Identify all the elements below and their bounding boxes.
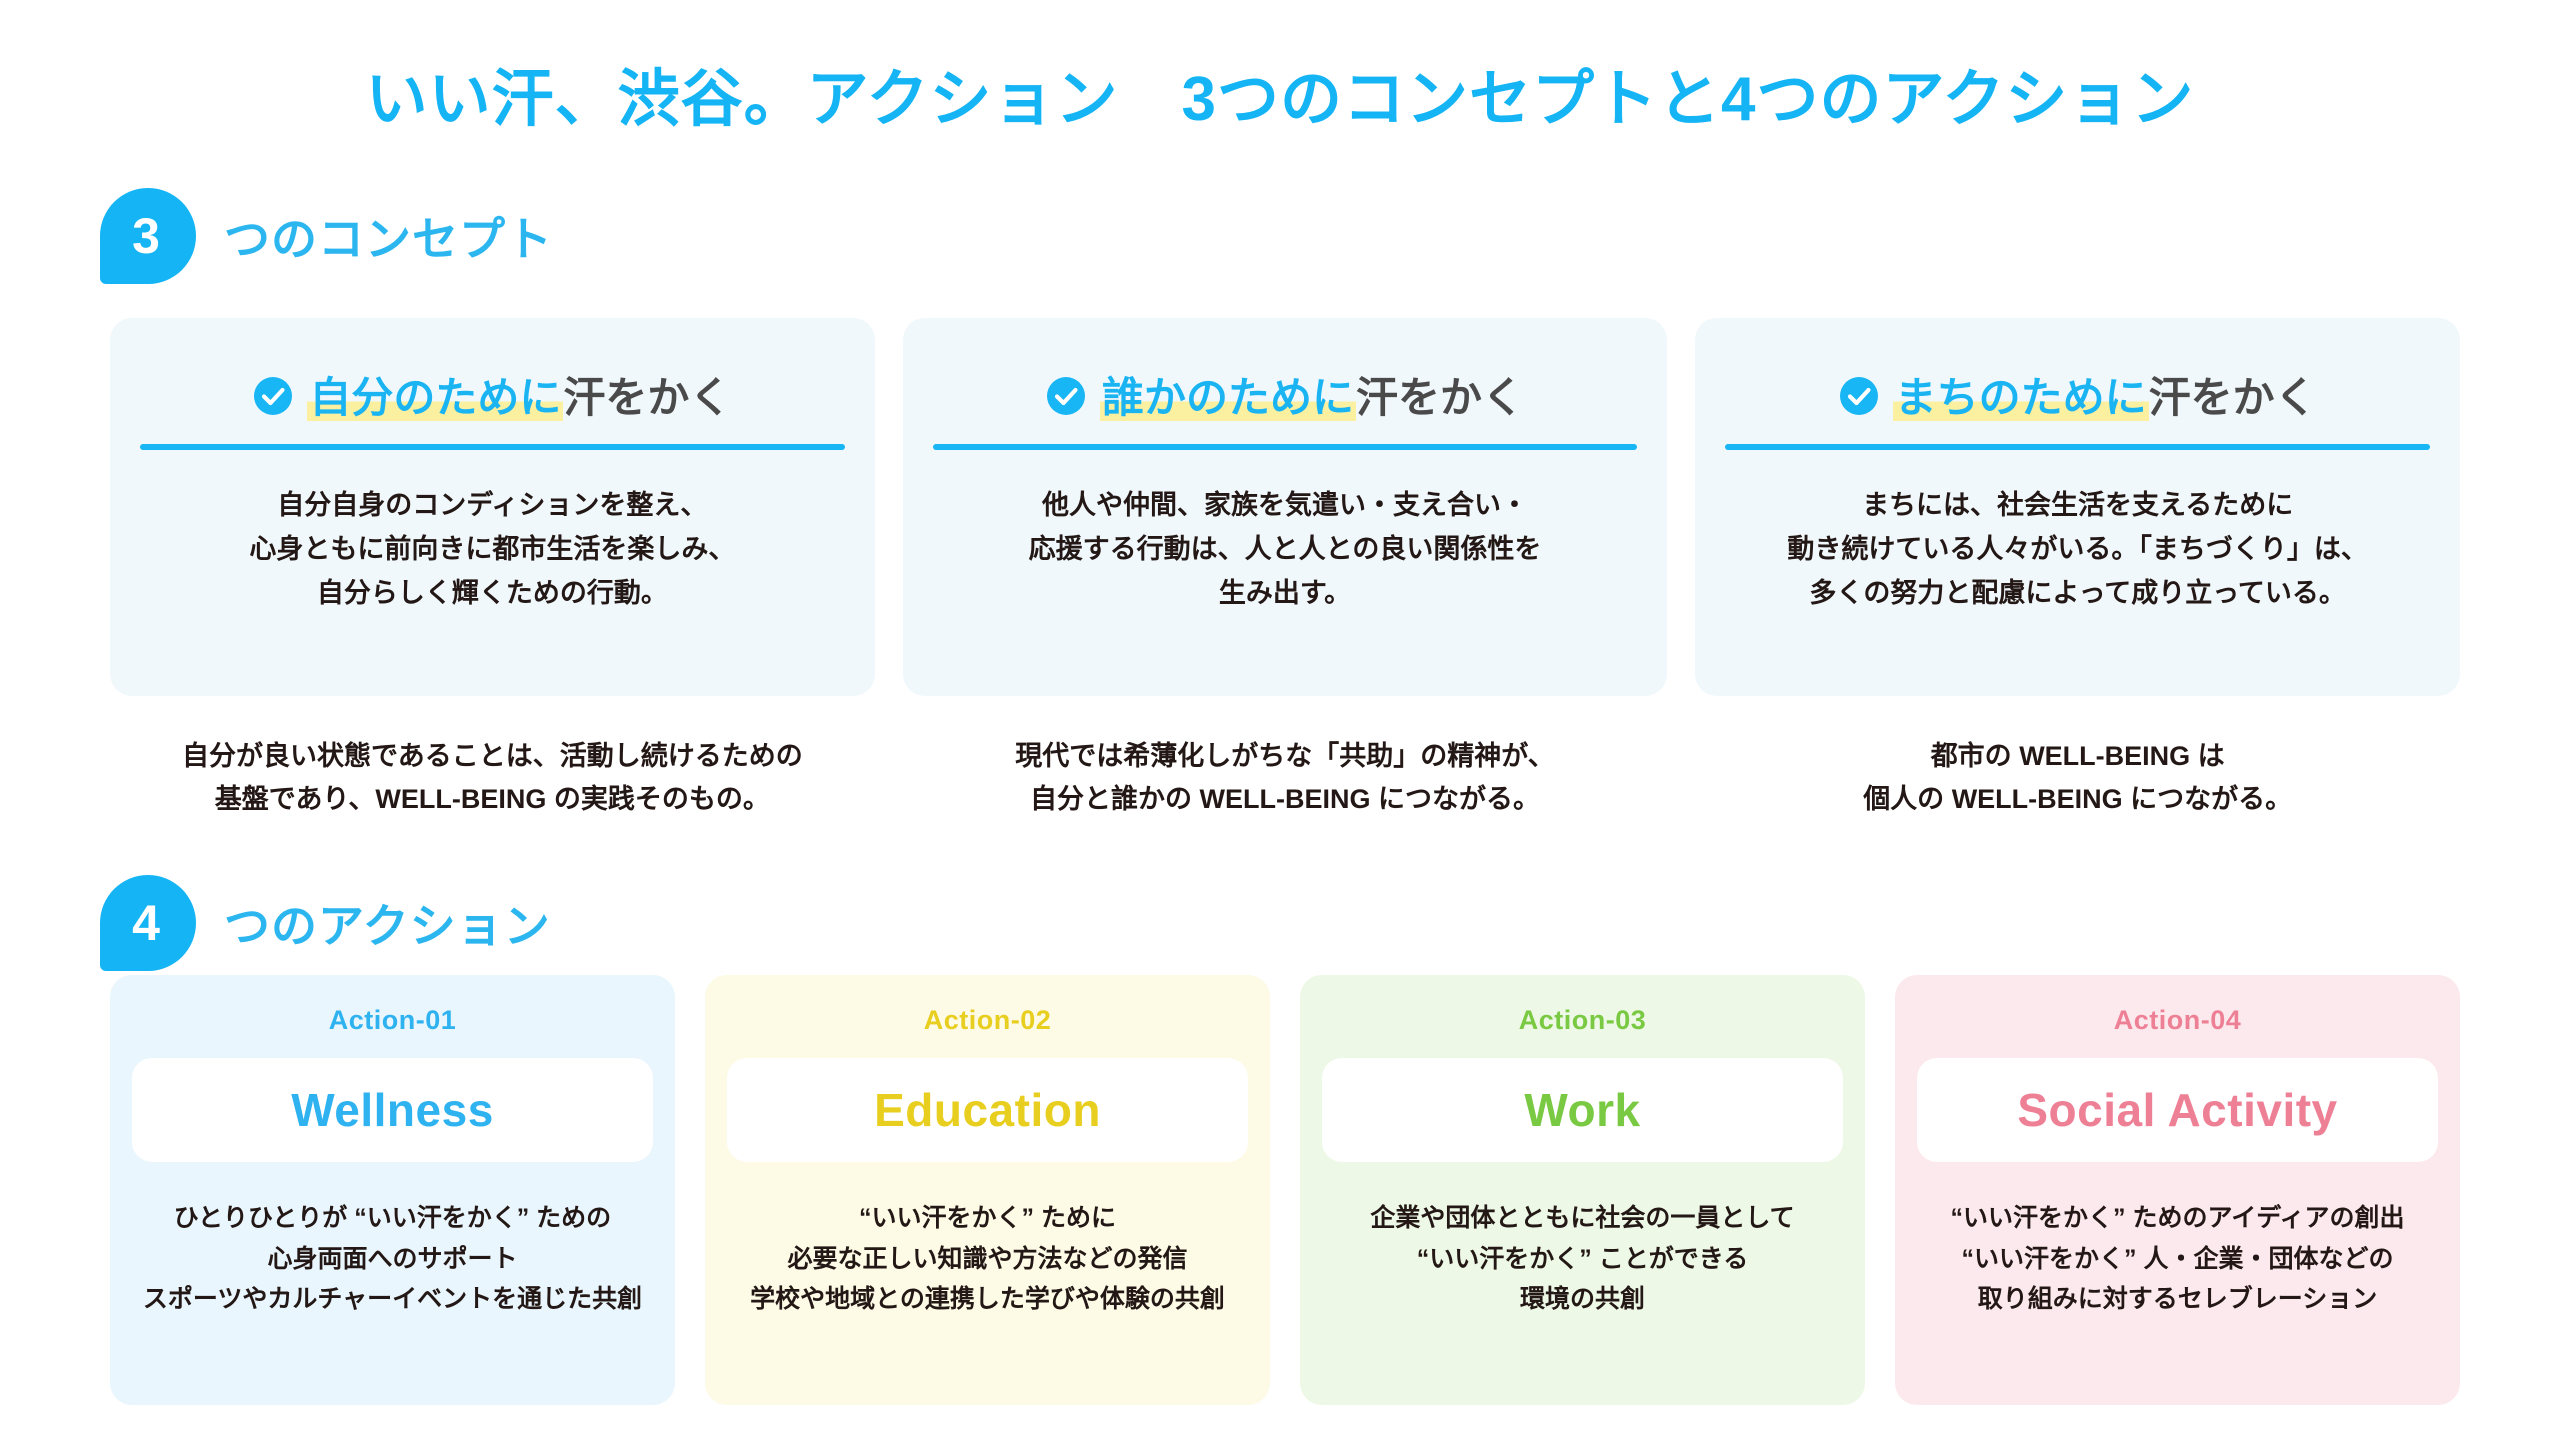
action-card-list: Action-01 Wellness ひとりひとりが “いい汗をかく” ための … bbox=[110, 975, 2460, 1405]
concept-section-label: つのコンセプト bbox=[224, 203, 553, 269]
concept-title: 誰かのために汗をかく bbox=[1100, 374, 1524, 422]
action-label: Action-04 bbox=[2114, 1005, 2242, 1036]
action-badge: 4 bbox=[100, 875, 196, 971]
concept-underline bbox=[140, 444, 845, 450]
concept-badge: 3 bbox=[100, 188, 196, 284]
concept-card: まちのために汗をかく まちには、社会生活を支えるために 動き続けている人々がいる… bbox=[1695, 318, 2460, 696]
action-description: ひとりひとりが “いい汗をかく” ための 心身両面へのサポート スポーツやカルチ… bbox=[143, 1198, 642, 1320]
infographic-page: いい汗、渋谷。アクション 3つのコンセプトと4つのアクション 3 つのコンセプト… bbox=[0, 0, 2560, 1441]
concept-underline bbox=[933, 444, 1638, 450]
concept-title-row: 自分のために汗をかく bbox=[253, 374, 731, 422]
action-label: Action-01 bbox=[329, 1005, 457, 1036]
action-description: 企業や団体とともに社会の一員として “いい汗をかく” ことができる 環境の共創 bbox=[1370, 1198, 1794, 1320]
concept-title-highlight: 誰かのために bbox=[1100, 374, 1356, 421]
concept-title-highlight: 自分のために bbox=[307, 374, 563, 421]
concept-caption: 自分が良い状態であることは、活動し続けるための 基盤であり、WELL-BEING… bbox=[110, 735, 875, 821]
concept-title-highlight: まちのために bbox=[1893, 374, 2149, 421]
concept-badge-number: 3 bbox=[132, 211, 160, 261]
concept-title-rest: 汗をかく bbox=[563, 374, 731, 421]
action-card-work[interactable]: Action-03 Work 企業や団体とともに社会の一員として “いい汗をかく… bbox=[1300, 975, 1865, 1405]
action-section-heading: 4 つのアクション bbox=[100, 875, 551, 971]
action-name-chip: Social Activity bbox=[1917, 1058, 2438, 1162]
concept-title-row: まちのために汗をかく bbox=[1839, 374, 2317, 422]
concept-title-row: 誰かのために汗をかく bbox=[1046, 374, 1524, 422]
action-name-chip: Work bbox=[1322, 1058, 1843, 1162]
action-label: Action-02 bbox=[924, 1005, 1052, 1036]
concept-body: 自分自身のコンディションを整え、 心身ともに前向きに都市生活を楽しみ、 自分らし… bbox=[249, 484, 735, 615]
action-name: Social Activity bbox=[2017, 1083, 2337, 1137]
concept-title-rest: 汗をかく bbox=[2149, 374, 2317, 421]
action-badge-number: 4 bbox=[132, 898, 160, 948]
page-title: いい汗、渋谷。アクション 3つのコンセプトと4つのアクション bbox=[0, 48, 2560, 138]
action-card-education[interactable]: Action-02 Education “いい汗をかく” ために 必要な正しい知… bbox=[705, 975, 1270, 1405]
concept-card: 誰かのために汗をかく 他人や仲間、家族を気遣い・支え合い・ 応援する行動は、人と… bbox=[903, 318, 1668, 696]
action-card-social-activity[interactable]: Action-04 Social Activity “いい汗をかく” ためのアイ… bbox=[1895, 975, 2460, 1405]
check-circle-icon bbox=[253, 376, 293, 421]
concept-underline bbox=[1725, 444, 2430, 450]
check-circle-icon bbox=[1839, 376, 1879, 421]
concept-card: 自分のために汗をかく 自分自身のコンディションを整え、 心身ともに前向きに都市生… bbox=[110, 318, 875, 696]
action-name: Education bbox=[874, 1083, 1101, 1137]
concept-body: まちには、社会生活を支えるために 動き続けている人々がいる。「まちづくり」は、 … bbox=[1787, 484, 2368, 615]
action-name: Wellness bbox=[291, 1083, 494, 1137]
action-name: Work bbox=[1524, 1083, 1640, 1137]
concept-title: まちのために汗をかく bbox=[1893, 374, 2317, 422]
concept-card-list: 自分のために汗をかく 自分自身のコンディションを整え、 心身ともに前向きに都市生… bbox=[110, 318, 2460, 696]
concept-title-rest: 汗をかく bbox=[1356, 374, 1524, 421]
check-circle-icon bbox=[1046, 376, 1086, 421]
action-name-chip: Education bbox=[727, 1058, 1248, 1162]
concept-caption: 現代では希薄化しがちな「共助」の精神が、 自分と誰かの WELL-BEING に… bbox=[903, 735, 1668, 821]
action-label: Action-03 bbox=[1519, 1005, 1647, 1036]
concept-title: 自分のために汗をかく bbox=[307, 374, 731, 422]
action-description: “いい汗をかく” ためのアイディアの創出 “いい汗をかく” 人・企業・団体などの… bbox=[1951, 1198, 2405, 1320]
action-name-chip: Wellness bbox=[132, 1058, 653, 1162]
concept-caption: 都市の WELL-BEING は 個人の WELL-BEING につながる。 bbox=[1695, 735, 2460, 821]
concept-body: 他人や仲間、家族を気遣い・支え合い・ 応援する行動は、人と人との良い関係性を 生… bbox=[1029, 484, 1542, 615]
action-card-wellness[interactable]: Action-01 Wellness ひとりひとりが “いい汗をかく” ための … bbox=[110, 975, 675, 1405]
concept-section-heading: 3 つのコンセプト bbox=[100, 188, 553, 284]
concept-caption-list: 自分が良い状態であることは、活動し続けるための 基盤であり、WELL-BEING… bbox=[110, 735, 2460, 821]
action-description: “いい汗をかく” ために 必要な正しい知識や方法などの発信 学校や地域との連携し… bbox=[750, 1198, 1225, 1320]
action-section-label: つのアクション bbox=[224, 890, 551, 956]
